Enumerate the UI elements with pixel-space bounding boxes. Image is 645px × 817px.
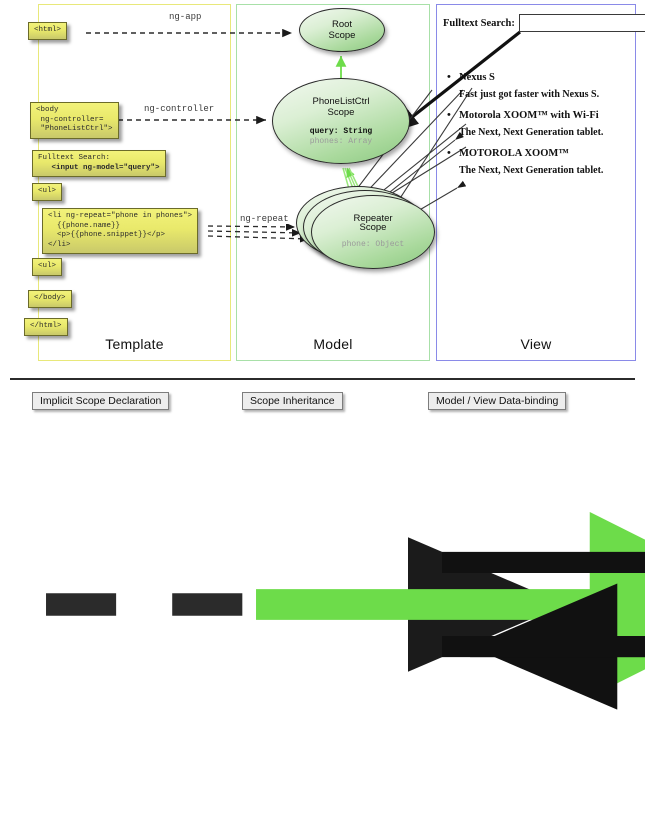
phone-name: Motorola XOOM™ with Wi-Fi [443,110,631,121]
column-label-template: Template [39,336,230,352]
list-item[interactable]: Motorola XOOM™ with Wi-Fi The Next, Next… [443,110,631,138]
phone-snippet: The Next, Next Generation tablet. [443,165,631,176]
fulltext-search-label: Fulltext Search: [443,18,515,29]
scope-repeater-prop-phone: phone: Object [342,240,404,250]
diagram-canvas: Template Model View [0,0,645,425]
code-box-li-ng-repeat: <li ng-repeat="phone in phones"> {{phone… [42,208,198,254]
scope-repeater-title-2: Scope [360,222,387,233]
edge-label-ng-repeat: ng-repeat [238,214,291,224]
scope-ctrl-title-1: PhoneListCtrl [312,96,369,107]
code-search-input-tag: <input ng-model="query"> [52,164,160,172]
list-item[interactable]: Nexus S Fast just got faster with Nexus … [443,72,631,100]
scope-root: Root Scope [299,8,385,52]
edge-label-ng-app: ng-app [167,12,203,22]
legend-item-model-view-data-binding: Model / View Data-binding [428,392,566,410]
scope-repeater: Repeater Scope phone: Object [311,195,435,269]
scope-root-title-1: Root [332,19,352,30]
code-search-label: Fulltext Search: [38,154,110,162]
view-content: Fulltext Search: Nexus S Fast just got f… [443,14,631,186]
legend-divider [10,378,635,380]
scope-root-title-2: Scope [329,30,356,41]
phone-snippet: The Next, Next Generation tablet. [443,127,631,138]
code-box-ul-open: <ul> [32,183,62,201]
phone-list: Nexus S Fast just got faster with Nexus … [443,72,631,176]
list-item[interactable]: MOTOROLA XOOM™ The Next, Next Generation… [443,148,631,176]
column-label-model: Model [237,336,429,352]
search-input[interactable] [519,14,645,32]
code-box-html: <html> [28,22,67,40]
fulltext-search-row: Fulltext Search: [443,14,631,32]
code-box-html-close: </html> [24,318,68,336]
code-box-search-input: Fulltext Search: <input ng-model="query"… [32,150,166,177]
code-box-body-close: </body> [28,290,72,308]
phone-name: MOTOROLA XOOM™ [443,148,631,159]
legend-item-scope-inheritance: Scope Inheritance [242,392,343,410]
scope-phonelistctrl: PhoneListCtrl Scope query: String phones… [272,78,410,164]
scope-ctrl-title-2: Scope [328,107,355,118]
legend-item-implicit-scope-declaration: Implicit Scope Declaration [32,392,169,410]
column-label-view: View [437,336,635,352]
edge-label-ng-controller: ng-controller [142,104,216,114]
column-model: Model [236,4,430,361]
legend: Implicit Scope Declaration Scope Inherit… [10,378,635,420]
double-arrow-icon [428,392,645,817]
scope-ctrl-prop-query: query: String [310,127,372,137]
scope-ctrl-prop-phones: phones: Array [310,137,372,147]
code-box-ul-close: <ul> [32,258,62,276]
phone-name: Nexus S [443,72,631,83]
phone-snippet: Fast just got faster with Nexus S. [443,89,631,100]
code-box-body: <body ng-controller= "PhoneListCtrl"> [30,102,119,139]
